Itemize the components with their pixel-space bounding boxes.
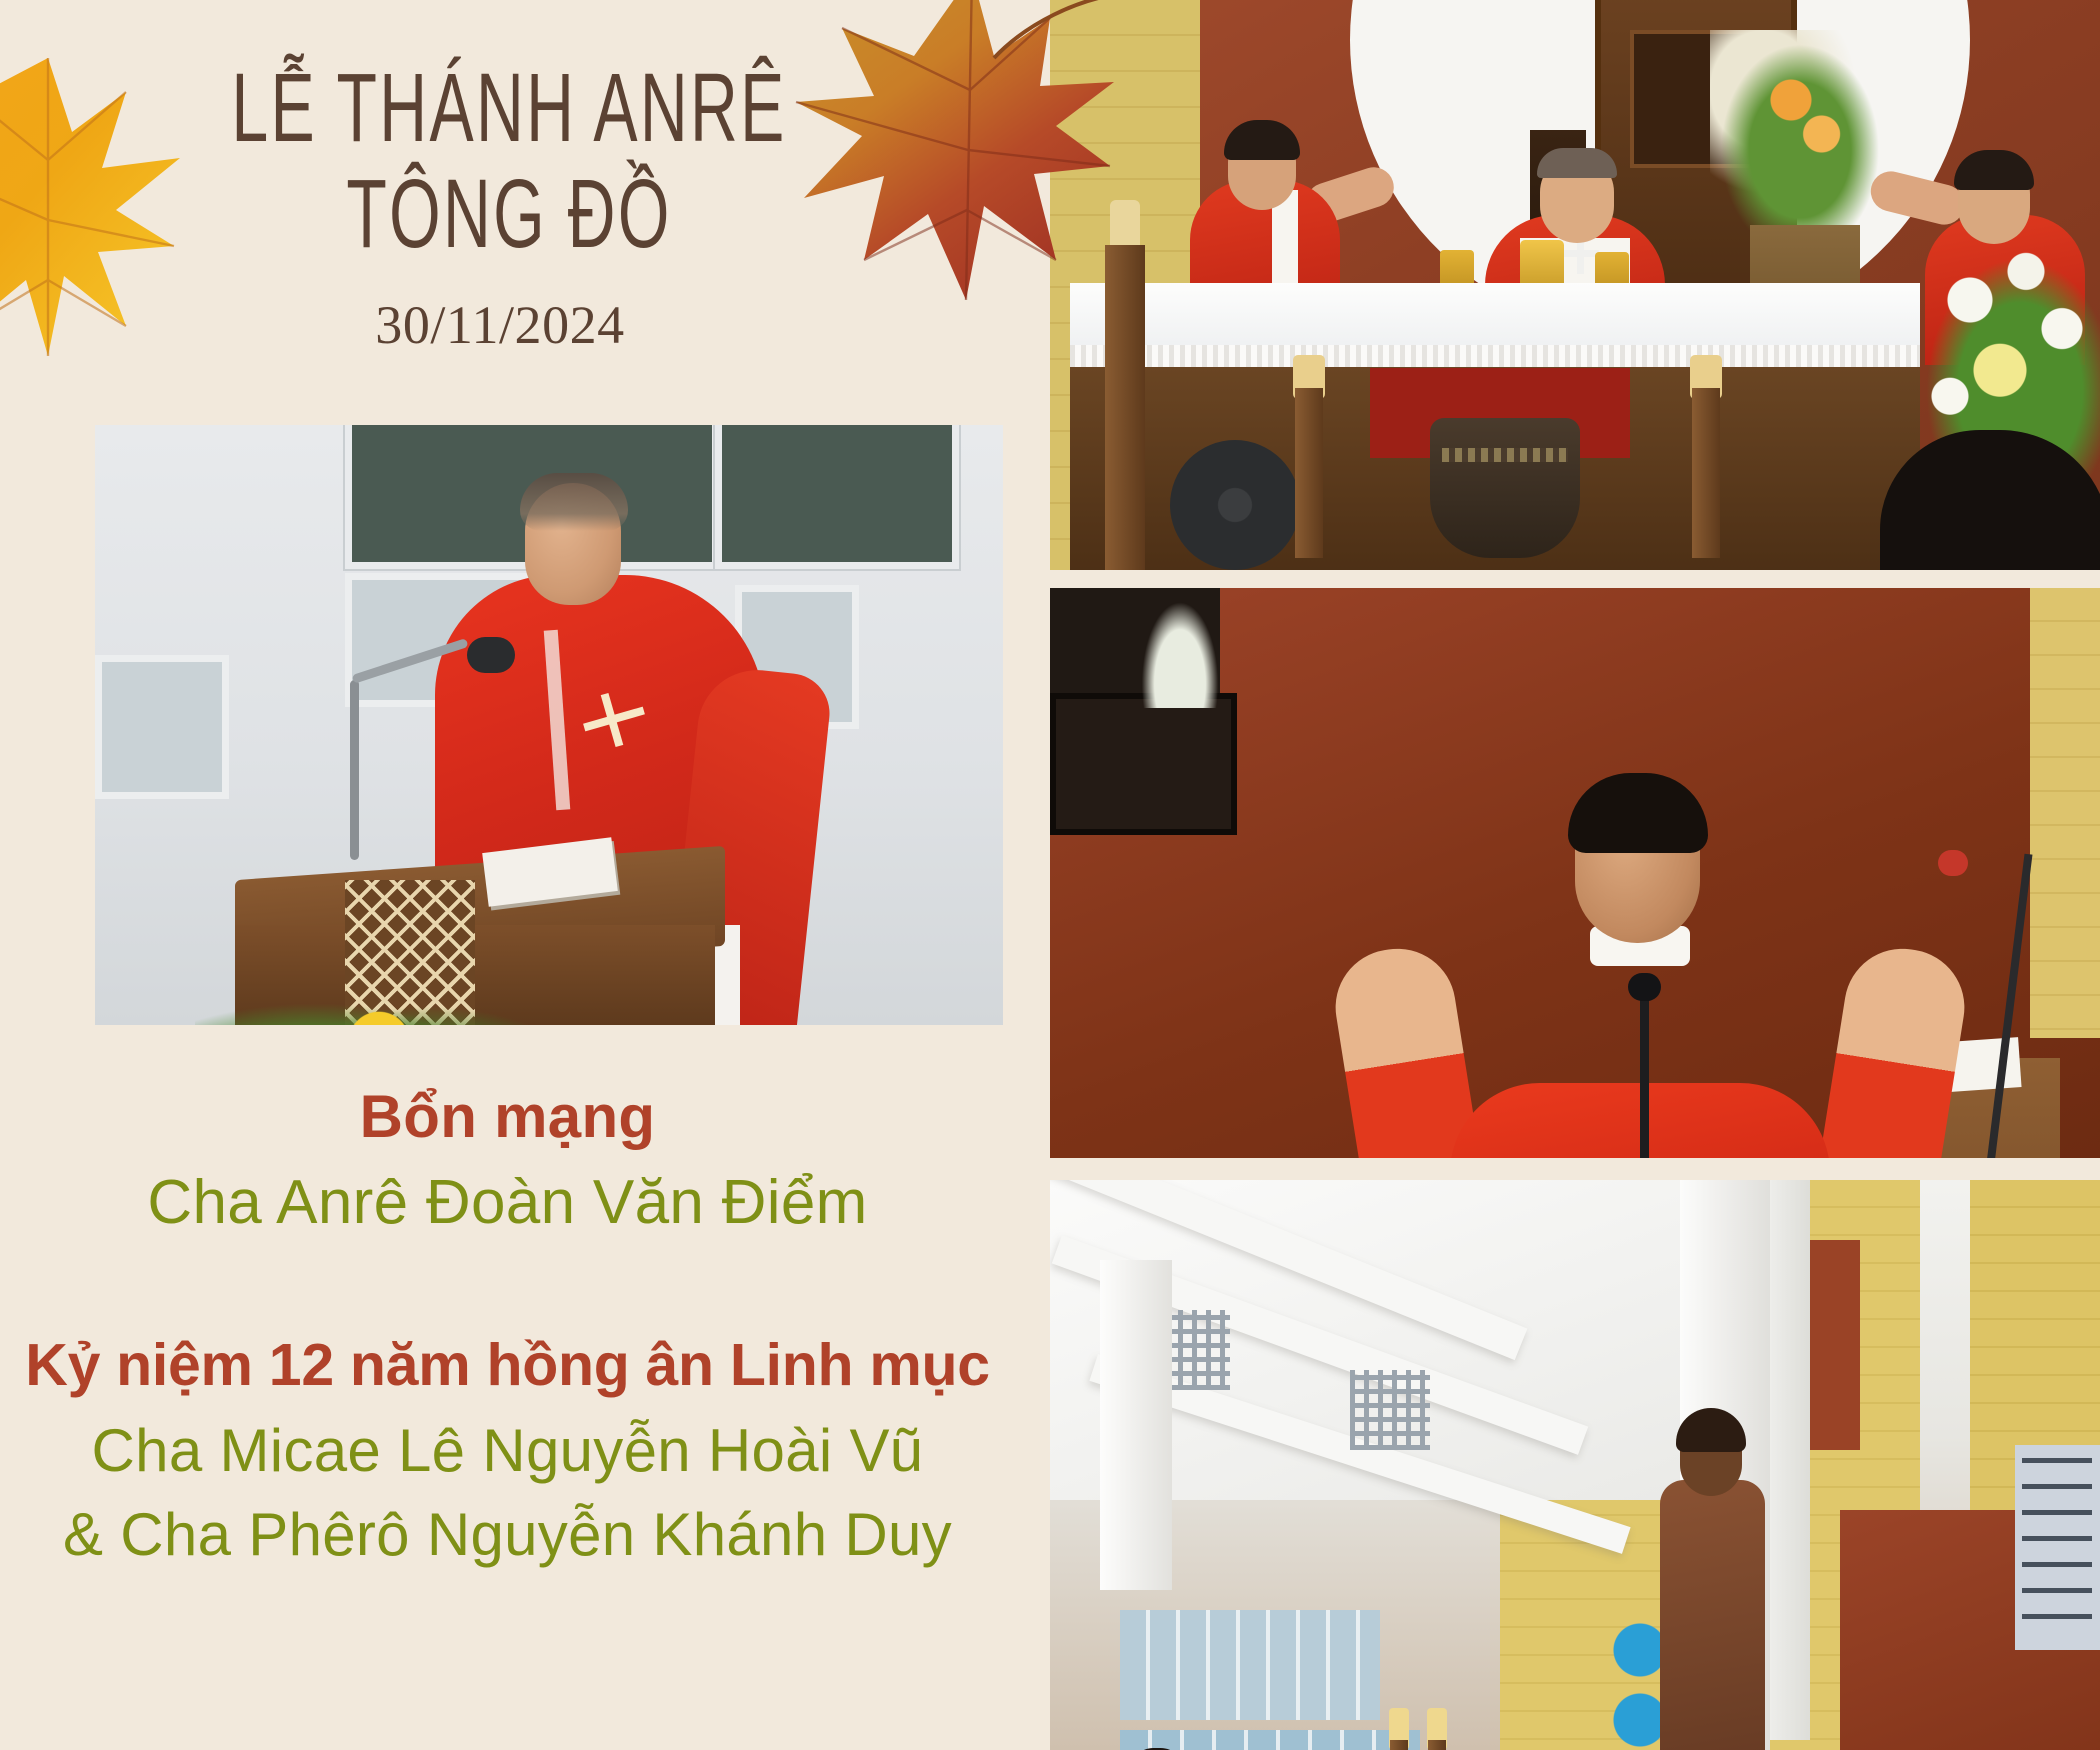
hymn-board-text bbox=[2022, 1458, 2092, 1638]
photo-main-ambo bbox=[95, 425, 1003, 1025]
hanging-greenery bbox=[1135, 588, 1225, 708]
ceiling-ornament-2 bbox=[1350, 1370, 1430, 1450]
anniversary-heading: Kỷ niệm 12 năm hồng ân Linh mục bbox=[0, 1333, 1015, 1398]
anniversary-name-1: Cha Micae Lê Nguyễn Hoài Vũ bbox=[0, 1412, 1015, 1490]
celebrant-hair bbox=[520, 473, 628, 531]
column-left bbox=[1100, 1260, 1172, 1590]
poster-canvas: LỄ THÁNH ANRÊ TÔNG ĐỒ 30/11/2024 Bổn mạn… bbox=[0, 0, 2100, 1750]
microphone-head bbox=[467, 637, 515, 673]
anniversary-name-2: & Cha Phêrô Nguyễn Khánh Duy bbox=[0, 1496, 1015, 1574]
leaf-top-maple-icon bbox=[788, 0, 1118, 320]
photo-bottom-right-church bbox=[1050, 1180, 2100, 1750]
orange-flower-arrangement bbox=[1710, 30, 1890, 230]
window-left bbox=[95, 655, 229, 799]
leaf-left-orange-icon bbox=[0, 40, 190, 370]
window-upper-right bbox=[715, 425, 959, 569]
photo-top-right-altar bbox=[1050, 0, 2100, 570]
clerestory-window bbox=[1120, 1610, 1380, 1720]
incense-urn bbox=[1430, 418, 1580, 558]
carved-wood-frame bbox=[1050, 693, 1237, 835]
candlestick-1 bbox=[1390, 1740, 1408, 1750]
dedication-block: Bổn mạng Cha Anrê Đoàn Văn Điểm Kỷ niệm … bbox=[0, 1085, 1015, 1574]
candlestick-center bbox=[1295, 388, 1323, 558]
microphone-boom bbox=[1640, 988, 1649, 1158]
microphone-stem bbox=[350, 680, 359, 860]
patron-name: Cha Anrê Đoàn Văn Điểm bbox=[0, 1164, 1015, 1242]
yellow-brick-edge bbox=[2030, 588, 2100, 1038]
patron-heading: Bổn mạng bbox=[0, 1085, 1015, 1150]
microphone-capsule bbox=[1628, 973, 1661, 1001]
incense-urn-band bbox=[1442, 448, 1568, 462]
microphone-windscreen bbox=[1938, 850, 1968, 876]
altar-cloth-lace bbox=[1070, 345, 1920, 367]
photo-mid-right-blessing bbox=[1050, 588, 2100, 1158]
saint-andrew-statue-body bbox=[1660, 1480, 1765, 1750]
candlestick-2 bbox=[1428, 1740, 1446, 1750]
stole-cross-vertical bbox=[1577, 240, 1584, 274]
sunflower-arrangement bbox=[195, 985, 595, 1025]
standing-fan bbox=[1170, 440, 1300, 570]
candlestick-right bbox=[1692, 388, 1720, 558]
main-celebrant-hair bbox=[1537, 148, 1617, 178]
side-window-grille bbox=[1120, 1730, 1420, 1750]
